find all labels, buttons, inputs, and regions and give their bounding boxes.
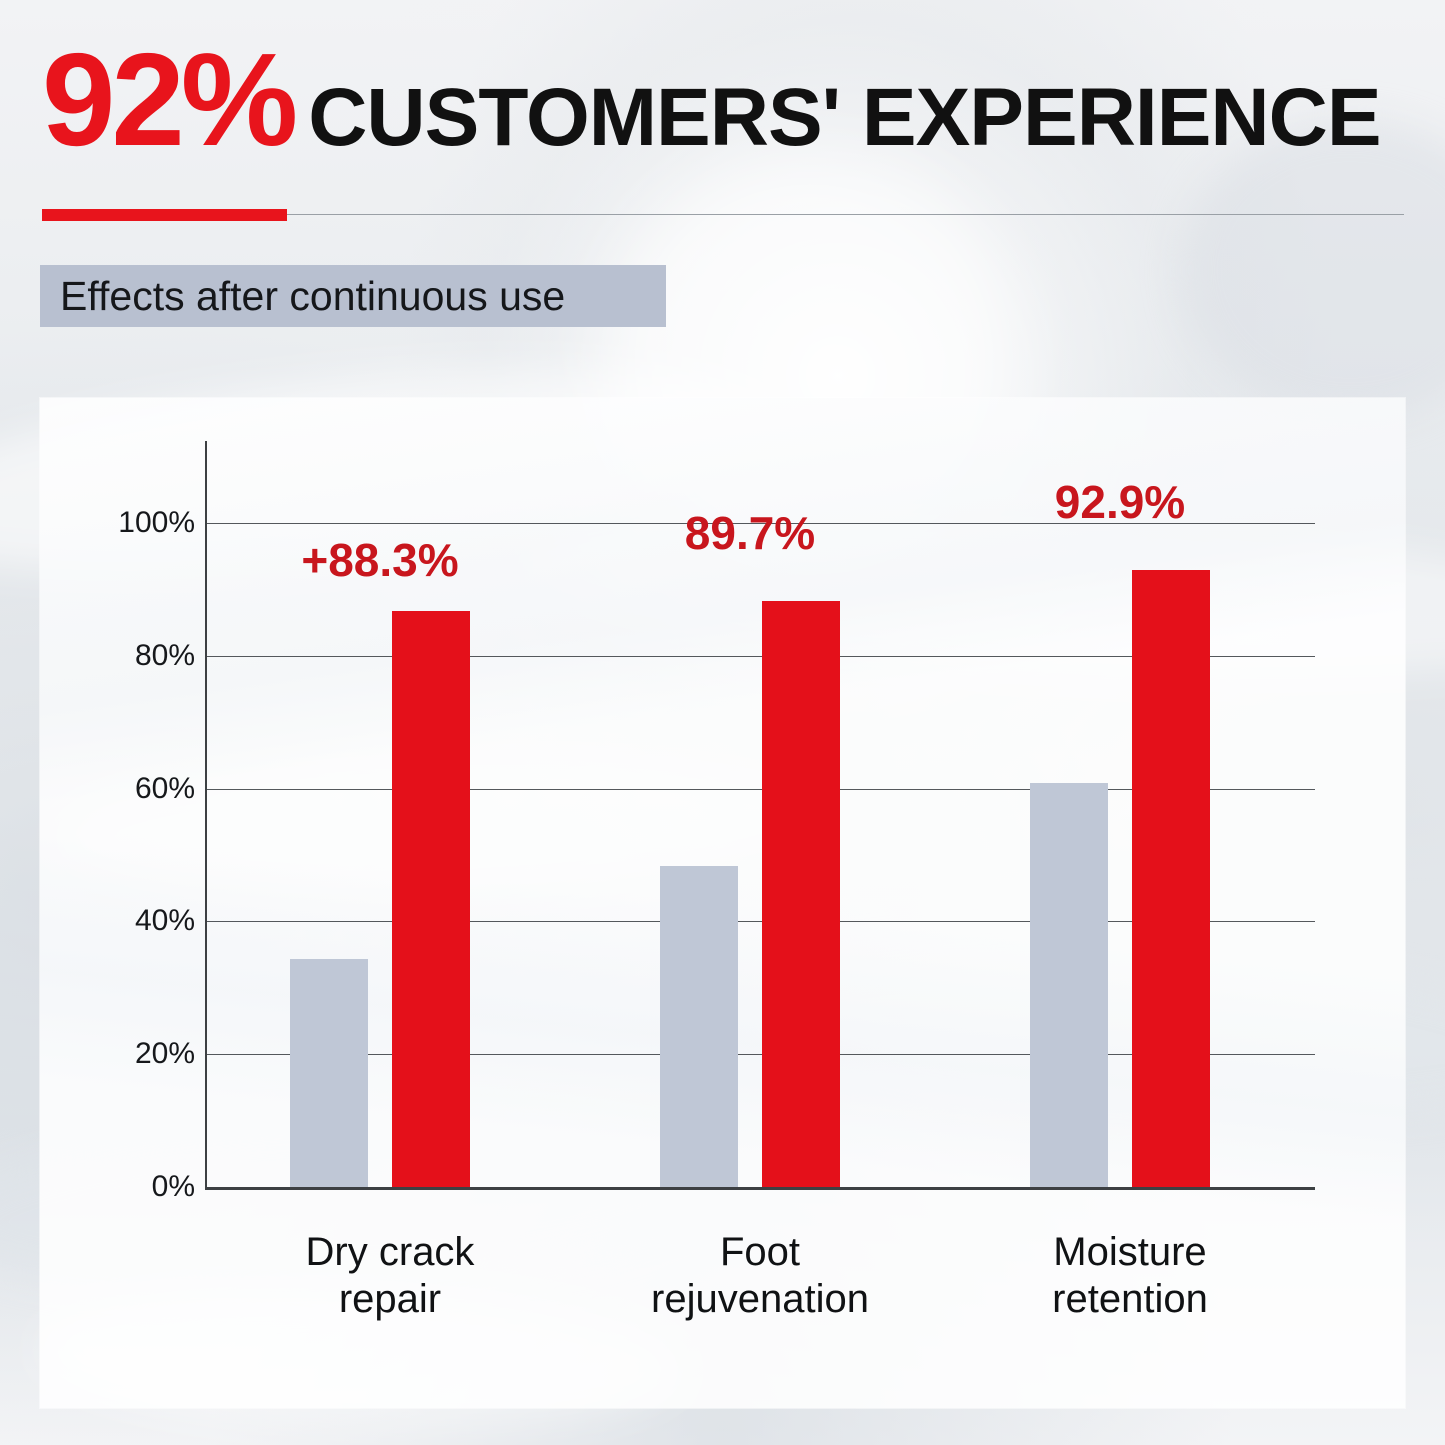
category-label-line: Moisture: [945, 1229, 1315, 1276]
y-axis-tick-label: 60%: [65, 772, 195, 806]
bar-value-label: 92.9%: [1010, 475, 1230, 529]
x-axis-category-label: Dry crackrepair: [205, 1229, 575, 1323]
bar-value-label: +88.3%: [270, 533, 490, 587]
bar-after-2: [1132, 570, 1210, 1187]
category-label-line: retention: [945, 1276, 1315, 1323]
bar-before-2: [1030, 783, 1108, 1187]
bar-after-1: [762, 601, 840, 1187]
divider-accent-bar: [42, 209, 287, 221]
category-label-line: Foot: [575, 1229, 945, 1276]
headline-text: CUSTOMERS' EXPERIENCE: [308, 72, 1380, 163]
x-axis-category-label: Footrejuvenation: [575, 1229, 945, 1323]
y-axis-tick-label: 20%: [65, 1037, 195, 1071]
x-axis-category-label: Moistureretention: [945, 1229, 1315, 1323]
subtitle-text: Effects after continuous use: [40, 273, 565, 320]
bar-after-0: [392, 611, 470, 1187]
y-axis-line: [205, 441, 207, 1189]
bar-chart: 0%20%40%60%80%100%+88.3%Dry crackrepair8…: [40, 398, 1405, 1408]
page-title: 92%CUSTOMERS' EXPERIENCE: [42, 34, 1381, 166]
y-axis-tick-label: 0%: [65, 1170, 195, 1204]
bar-value-label: 89.7%: [640, 506, 860, 560]
y-axis-tick-label: 100%: [65, 506, 195, 540]
title-divider: [42, 209, 1404, 221]
y-axis-tick-label: 80%: [65, 639, 195, 673]
headline-percent: 92%: [42, 26, 294, 173]
subtitle-band: Effects after continuous use: [40, 265, 666, 327]
category-label-line: rejuvenation: [575, 1276, 945, 1323]
x-axis-line: [205, 1187, 1315, 1190]
bar-before-0: [290, 959, 368, 1187]
category-label-line: Dry crack: [205, 1229, 575, 1276]
category-label-line: repair: [205, 1276, 575, 1323]
bar-before-1: [660, 866, 738, 1187]
poster-root: 92%CUSTOMERS' EXPERIENCE Effects after c…: [0, 0, 1445, 1445]
chart-card: 0%20%40%60%80%100%+88.3%Dry crackrepair8…: [40, 398, 1405, 1408]
y-axis-tick-label: 40%: [65, 904, 195, 938]
